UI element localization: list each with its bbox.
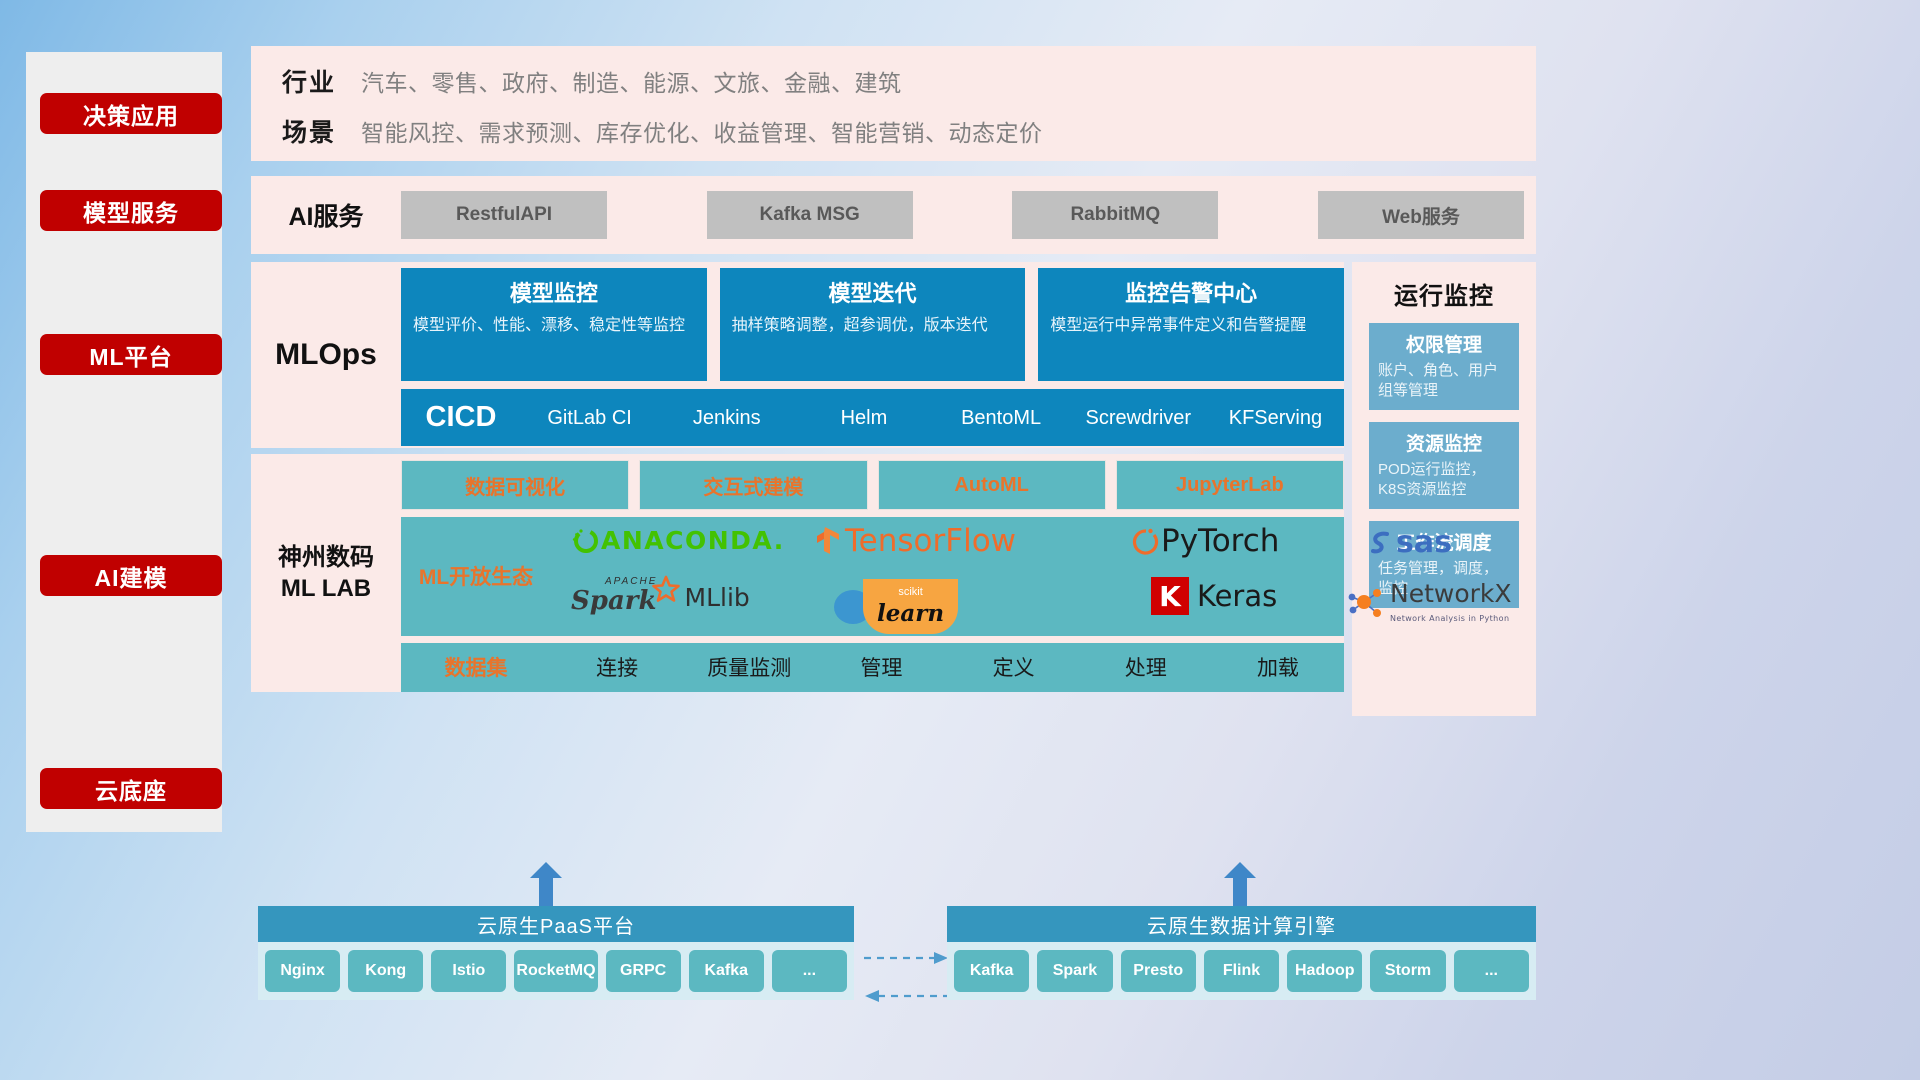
sas-mark (1366, 528, 1396, 558)
compute-chip-spark[interactable]: Spark (1037, 950, 1112, 992)
ai-service-chip-kafka-msg[interactable]: Kafka MSG (707, 191, 913, 239)
rail-item-label: 决策应用 (83, 97, 179, 131)
industry-label: 行业 (251, 63, 361, 99)
ml-lab-label-line1: 神州数码 (278, 544, 374, 571)
dataset-row: 数据集 连接 质量监测 管理 定义 处理 加载 (401, 643, 1344, 692)
dataset-item-connect[interactable]: 连接 (551, 652, 683, 682)
dataset-item-list: 连接 质量监测 管理 定义 处理 加载 (551, 652, 1344, 682)
modeling-tool-list: 数据可视化 交互式建模 AutoML JupyterLab (401, 460, 1344, 510)
cicd-item-jenkins[interactable]: Jenkins (658, 407, 795, 429)
up-arrow-paas-icon (529, 862, 563, 900)
paas-platform-title: 云原生PaaS平台 (258, 906, 854, 942)
tool-chip-data-visualization[interactable]: 数据可视化 (401, 460, 629, 510)
dataset-title: 数据集 (401, 652, 551, 682)
tensorflow-logo: TensorFlow (811, 523, 1016, 559)
dataset-item-process[interactable]: 处理 (1080, 652, 1212, 682)
anaconda-mark (571, 525, 601, 555)
rail-item-model-service[interactable]: 模型服务 (40, 190, 222, 231)
rail-item-ml-platform[interactable]: ML平台 (40, 334, 222, 375)
card-title: 资源监控 (1378, 429, 1510, 456)
rail-item-decision-app[interactable]: 决策应用 (40, 93, 222, 134)
keras-mark: K (1151, 577, 1189, 615)
mlops-content: 模型监控 模型评价、性能、漂移、稳定性等监控 模型迭代 抽样策略调整，超参调优，… (401, 262, 1344, 448)
scenario-label: 场景 (251, 113, 361, 149)
industry-row: 行业 汽车、零售、政府、制造、能源、文旅、金融、建筑 (251, 56, 1536, 106)
dataset-item-load[interactable]: 加载 (1212, 652, 1344, 682)
mllib-wordmark: MLlib (685, 583, 750, 612)
tool-chip-jupyterlab[interactable]: JupyterLab (1116, 460, 1344, 510)
paas-chip-kong[interactable]: Kong (348, 950, 423, 992)
mlops-card-list: 模型监控 模型评价、性能、漂移、稳定性等监控 模型迭代 抽样策略调整，超参调优，… (401, 268, 1344, 381)
paas-chip-istio[interactable]: Istio (431, 950, 506, 992)
scikit-learn-logo: scikit learn (831, 579, 958, 634)
ml-lab-label-line2: ML LAB (281, 575, 371, 602)
paas-chip-more[interactable]: ... (772, 950, 847, 992)
diagram-canvas: 决策应用 模型服务 ML平台 AI建模 云底座 行业 汽车、零售、政府、制造、能… (0, 0, 1920, 1080)
paas-chip-kafka[interactable]: Kafka (689, 950, 764, 992)
industry-scenario-band: 行业 汽车、零售、政府、制造、能源、文旅、金融、建筑 场景 智能风控、需求预测、… (251, 46, 1536, 161)
industry-values: 汽车、零售、政府、制造、能源、文旅、金融、建筑 (361, 64, 902, 98)
ai-service-chip-restfulapi[interactable]: RestfulAPI (401, 191, 607, 239)
card-desc: 模型运行中异常事件定义和告警提醒 (1050, 315, 1332, 337)
paas-platform: 云原生PaaS平台 Nginx Kong Istio RocketMQ GRPC… (258, 906, 854, 1000)
dataset-item-quality[interactable]: 质量监测 (683, 652, 815, 682)
card-title: 模型监控 (413, 276, 695, 308)
anaconda-logo: ANACONDA. (571, 525, 785, 555)
networkx-mark (1346, 585, 1386, 621)
pytorch-logo: PyTorch (1131, 523, 1279, 559)
pytorch-wordmark: PyTorch (1161, 523, 1279, 559)
card-desc: 账户、角色、用户组等管理 (1378, 361, 1510, 400)
runtime-monitor-title: 运行监控 (1352, 262, 1536, 311)
card-desc: 抽样策略调整，超参调优，版本迭代 (732, 315, 1014, 337)
left-rail (26, 52, 222, 832)
cicd-title: CICD (401, 401, 521, 434)
cicd-item-kfserving[interactable]: KFServing (1207, 407, 1344, 429)
ml-ecosystem-row: ML开放生态 ANACONDA. (401, 517, 1344, 636)
paas-chip-nginx[interactable]: Nginx (265, 950, 340, 992)
networkx-logo: NetworkX Network Analysis in Python (1346, 579, 1512, 626)
tensorflow-wordmark: TensorFlow (845, 523, 1016, 559)
card-title: 权限管理 (1378, 330, 1510, 357)
keras-wordmark: Keras (1197, 579, 1277, 613)
paas-chip-grpc[interactable]: GRPC (606, 950, 681, 992)
card-title: 模型迭代 (732, 276, 1014, 308)
compute-chip-presto[interactable]: Presto (1121, 950, 1196, 992)
chip-label: RabbitMQ (1070, 204, 1160, 226)
spark-wordmark: Spark (571, 586, 657, 616)
networkx-tagline: Network Analysis in Python (1390, 614, 1509, 623)
compute-chip-list: Kafka Spark Presto Flink Hadoop Storm ..… (947, 942, 1536, 1000)
mlops-card-model-iteration[interactable]: 模型迭代 抽样策略调整，超参调优，版本迭代 (720, 268, 1026, 381)
rail-item-ai-modeling[interactable]: AI建模 (40, 555, 222, 596)
mlops-label: MLOps (251, 262, 401, 448)
ml-ecosystem-logos: ANACONDA. TensorFlow (551, 517, 1344, 635)
paas-chip-rocketmq[interactable]: RocketMQ (514, 950, 597, 992)
cicd-item-bentoml[interactable]: BentoML (933, 407, 1070, 429)
apache-wordmark: APACHE (605, 576, 657, 587)
keras-logo: K Keras (1151, 577, 1277, 615)
ai-service-chip-rabbitmq[interactable]: RabbitMQ (1012, 191, 1218, 239)
dataset-item-define[interactable]: 定义 (948, 652, 1080, 682)
rail-item-label: 模型服务 (83, 194, 179, 228)
card-title: 监控告警中心 (1050, 276, 1332, 308)
ai-service-items: RestfulAPI Kafka MSG RabbitMQ Web服务 (401, 191, 1536, 239)
sas-wordmark: sas (1396, 525, 1452, 560)
cicd-item-gitlab-ci[interactable]: GitLab CI (521, 407, 658, 429)
rail-item-label: ML平台 (89, 338, 172, 372)
sas-logo: sas (1366, 525, 1452, 560)
scenario-values: 智能风控、需求预测、库存优化、收益管理、智能营销、动态定价 (361, 114, 1043, 148)
anaconda-wordmark: ANACONDA. (601, 526, 785, 555)
rail-item-cloud-base[interactable]: 云底座 (40, 768, 222, 809)
monitor-card-permission[interactable]: 权限管理 账户、角色、用户组等管理 (1369, 323, 1519, 410)
compute-chip-more[interactable]: ... (1454, 950, 1529, 992)
ai-service-chip-web-service[interactable]: Web服务 (1318, 191, 1524, 239)
cicd-bar: CICD GitLab CI Jenkins Helm BentoML Scre… (401, 389, 1344, 446)
chip-label: Kafka MSG (760, 204, 860, 226)
mlops-card-model-monitoring[interactable]: 模型监控 模型评价、性能、漂移、稳定性等监控 (401, 268, 707, 381)
scenario-row: 场景 智能风控、需求预测、库存优化、收益管理、智能营销、动态定价 (251, 106, 1536, 156)
up-arrow-compute-icon (1223, 862, 1257, 900)
cicd-item-list: GitLab CI Jenkins Helm BentoML Screwdriv… (521, 407, 1344, 429)
compute-engine-title: 云原生数据计算引擎 (947, 906, 1536, 942)
tool-chip-automl[interactable]: AutoML (878, 460, 1106, 510)
pytorch-mark (1131, 525, 1161, 557)
bidirectional-dashed-connector (862, 944, 944, 1006)
tensorflow-mark (811, 524, 845, 558)
ai-service-band: AI服务 RestfulAPI Kafka MSG RabbitMQ Web服务 (251, 176, 1536, 254)
compute-chip-hadoop[interactable]: Hadoop (1287, 950, 1362, 992)
ml-lab-label: 神州数码 ML LAB (251, 454, 401, 692)
rail-item-label: 云底座 (95, 772, 167, 806)
scikit-wordmark: scikit (898, 586, 922, 598)
chip-label: Web服务 (1382, 202, 1460, 229)
mlops-band: MLOps 模型监控 模型评价、性能、漂移、稳定性等监控 模型迭代 抽样策略调整… (251, 262, 1344, 448)
cicd-item-helm[interactable]: Helm (795, 407, 932, 429)
networkx-wordmark: NetworkX (1390, 579, 1512, 608)
spark-mllib-logo: APACHE Spark MLlib (571, 575, 750, 619)
ai-service-label: AI服务 (251, 197, 401, 233)
tool-chip-interactive-modeling[interactable]: 交互式建模 (639, 460, 867, 510)
ai-modeling-band: 神州数码 ML LAB 数据可视化 交互式建模 AutoML JupyterLa… (251, 454, 1344, 692)
compute-engine-platform: 云原生数据计算引擎 Kafka Spark Presto Flink Hadoo… (947, 906, 1536, 1000)
mlops-card-alert-center[interactable]: 监控告警中心 模型运行中异常事件定义和告警提醒 (1038, 268, 1344, 381)
card-desc: 模型评价、性能、漂移、稳定性等监控 (413, 315, 695, 337)
compute-chip-storm[interactable]: Storm (1370, 950, 1445, 992)
card-desc: POD运行监控，K8S资源监控 (1378, 460, 1510, 499)
cicd-item-screwdriver[interactable]: Screwdriver (1070, 407, 1207, 429)
rail-item-label: AI建模 (95, 559, 168, 593)
compute-chip-flink[interactable]: Flink (1204, 950, 1279, 992)
runtime-monitor-panel: 运行监控 权限管理 账户、角色、用户组等管理 资源监控 POD运行监控，K8S资… (1352, 262, 1536, 716)
chip-label: RestfulAPI (456, 204, 552, 226)
ai-modeling-content: 数据可视化 交互式建模 AutoML JupyterLab ML开放生态 A (401, 454, 1344, 692)
ml-ecosystem-label: ML开放生态 (401, 561, 551, 591)
paas-chip-list: Nginx Kong Istio RocketMQ GRPC Kafka ... (258, 942, 854, 1000)
monitor-card-resource[interactable]: 资源监控 POD运行监控，K8S资源监控 (1369, 422, 1519, 509)
dataset-item-manage[interactable]: 管理 (815, 652, 947, 682)
learn-wordmark: learn (877, 600, 944, 627)
compute-chip-kafka[interactable]: Kafka (954, 950, 1029, 992)
